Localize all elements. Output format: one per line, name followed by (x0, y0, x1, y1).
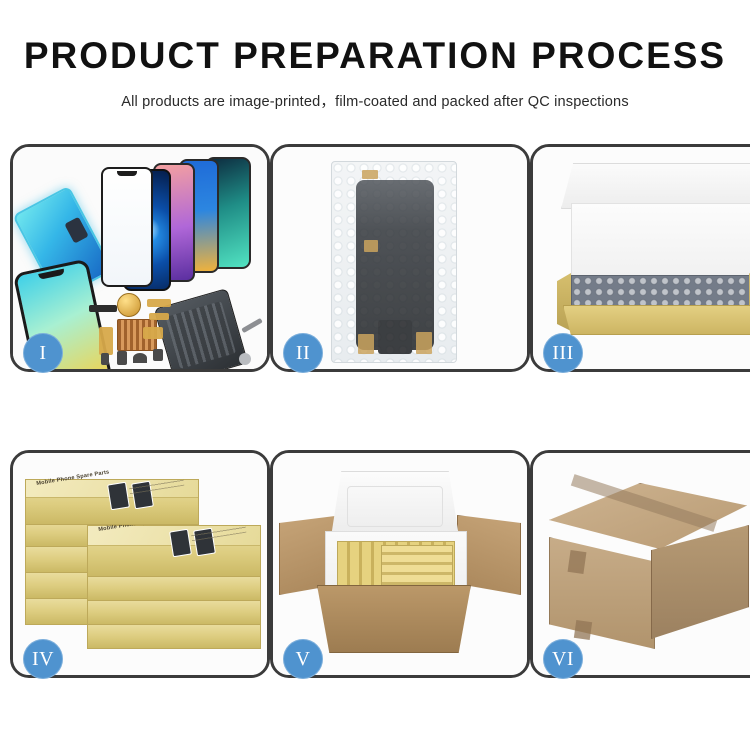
process-step-1: I (10, 144, 270, 372)
process-step-2: II (270, 144, 530, 372)
earpiece-bar-icon (89, 305, 117, 312)
tape-bottom-right-icon (416, 332, 432, 354)
box-stack-icon: Mobile Phone Spare Parts Mobile Phone Sp… (25, 473, 257, 663)
page-header: PRODUCT PREPARATION PROCESS All products… (0, 0, 750, 111)
small-part-4-icon (153, 349, 163, 361)
screw-icon (239, 353, 251, 365)
tape-top-icon (362, 170, 378, 179)
flex-cable-3-icon (99, 327, 113, 355)
stack-box-right-2 (87, 597, 261, 625)
tape-bottom-left-icon (358, 334, 374, 354)
small-part-1-icon (101, 353, 109, 365)
step-6-badge: VI (543, 639, 583, 679)
page-title: PRODUCT PREPARATION PROCESS (0, 36, 750, 77)
small-part-2-icon (117, 351, 127, 365)
screen-assembly-icon (356, 180, 434, 350)
process-step-4: Mobile Phone Spare Parts Mobile Phone Sp… (10, 450, 270, 678)
product-preparation-page: PRODUCT PREPARATION PROCESS All products… (0, 0, 750, 750)
page-subtitle: All products are image-printed，film-coat… (0, 90, 750, 111)
carton-tape-bottom-icon (574, 620, 592, 640)
tape-mid-icon (364, 240, 378, 252)
screen-glass-icon (101, 167, 153, 287)
box-label-back: Mobile Phone Spare Parts (36, 469, 110, 486)
stack-box-right-1 (87, 621, 261, 649)
box-thumb-a-icon (169, 529, 192, 558)
carton-tape-top-icon (568, 550, 587, 574)
step-2-badge: II (283, 333, 323, 373)
box-front-panel-icon (563, 305, 750, 335)
step-3-badge: III (543, 333, 583, 373)
box-feature-lines-2-icon (129, 478, 185, 495)
process-step-3: III (530, 144, 750, 372)
step-4-badge: IV (23, 639, 63, 679)
process-step-5: V (270, 450, 530, 678)
foam-lid-icon (331, 471, 459, 537)
flex-cable-2-icon (149, 313, 169, 320)
flex-cable-4-icon (143, 327, 163, 339)
carton-front-face-icon (549, 537, 655, 649)
stack-box-back-top-face: Mobile Phone Spare Parts (26, 480, 198, 498)
step-1-badge: I (23, 333, 63, 373)
process-step-6: VI (530, 450, 750, 678)
speaker-coil-icon (117, 293, 141, 317)
step-5-badge: V (283, 639, 323, 679)
bubble-wrap-bag-icon (331, 161, 457, 363)
small-part-3-icon (133, 353, 147, 363)
box-thumb-c-icon (107, 482, 130, 511)
carton-body-icon (317, 585, 471, 653)
foam-sheet-icon (571, 203, 750, 283)
stack-box-front-top-face: Mobile Phone Spare Parts (88, 526, 260, 546)
process-steps-grid: I II (10, 144, 740, 678)
stack-box-right-3 (87, 573, 261, 601)
stack-box-front-top: Mobile Phone Spare Parts (87, 525, 261, 577)
stack-box-back-top: Mobile Phone Spare Parts (25, 479, 199, 525)
flex-cable-icon (147, 299, 171, 307)
box-feature-lines-icon (191, 524, 247, 542)
